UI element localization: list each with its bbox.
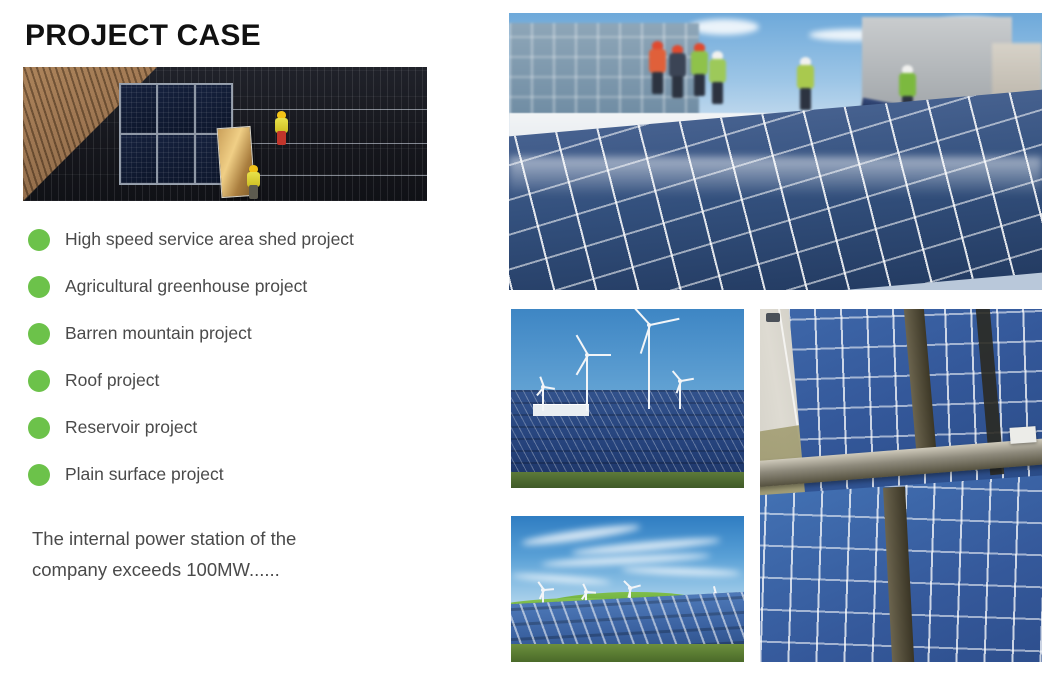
list-item[interactable]: Roof project <box>28 357 488 404</box>
wind-farm-photo <box>511 309 744 488</box>
roof-equipment-box <box>1009 426 1036 444</box>
hi-vis-vest <box>669 53 686 77</box>
list-item-label: Agricultural greenhouse project <box>65 276 307 297</box>
list-item[interactable]: Plain surface project <box>28 451 488 498</box>
worker-legs <box>652 72 663 94</box>
roof-installation-photo <box>23 67 427 201</box>
capacity-note-line-1: The internal power station of the <box>32 523 432 554</box>
hi-vis-vest <box>797 65 814 89</box>
worker-legs <box>694 74 705 96</box>
turbine-mast <box>648 323 650 409</box>
worker-legs <box>277 131 286 145</box>
list-item-label: Reservoir project <box>65 417 197 438</box>
worker-legs <box>249 185 258 199</box>
hi-vis-vest <box>691 51 708 75</box>
list-item[interactable]: Agricultural greenhouse project <box>28 263 488 310</box>
turbine-blade <box>544 588 554 591</box>
wind-turbine <box>669 379 691 409</box>
wind-turbine <box>571 353 603 411</box>
project-list: High speed service area shed project Agr… <box>28 216 488 498</box>
slide-root: PROJECT CASE <box>0 0 1060 689</box>
page-title: PROJECT CASE <box>25 21 261 51</box>
list-item[interactable]: Reservoir project <box>28 404 488 451</box>
rooftop-installation-photo <box>509 13 1042 290</box>
aerial-rooftop-solar-photo <box>760 309 1042 662</box>
hi-vis-vest <box>709 59 726 83</box>
list-item[interactable]: Barren mountain project <box>28 310 488 357</box>
parked-car <box>766 313 780 322</box>
list-item-label: Plain surface project <box>65 464 224 485</box>
wind-turbine <box>629 323 669 409</box>
wind-turbine <box>533 385 553 411</box>
worker-legs <box>672 76 683 98</box>
turbine-blade <box>587 591 596 594</box>
list-item[interactable]: High speed service area shed project <box>28 216 488 263</box>
list-item-label: Barren mountain project <box>65 323 252 344</box>
grass-strip <box>511 472 744 488</box>
capacity-note-line-2: company exceeds 100MW...... <box>32 554 432 585</box>
turbine-blade <box>588 354 611 356</box>
grassland-solar-photo <box>511 516 744 662</box>
list-item-label: Roof project <box>65 370 159 391</box>
worker-legs <box>712 82 723 104</box>
bullet-dot-icon <box>28 417 50 439</box>
bullet-dot-icon <box>28 276 50 298</box>
worker-legs <box>800 88 811 110</box>
turbine-mast <box>586 353 588 411</box>
hi-vis-vest <box>899 73 916 97</box>
capacity-note: The internal power station of the compan… <box>32 523 432 585</box>
bullet-dot-icon <box>28 229 50 251</box>
solar-array <box>119 83 233 185</box>
bullet-dot-icon <box>28 323 50 345</box>
grass-strip <box>511 644 744 662</box>
left-panel: PROJECT CASE <box>0 0 500 689</box>
cloud <box>689 19 759 35</box>
list-item-label: High speed service area shed project <box>65 229 354 250</box>
hi-vis-vest <box>649 49 666 73</box>
bullet-dot-icon <box>28 370 50 392</box>
bullet-dot-icon <box>28 464 50 486</box>
panel-glare <box>509 157 1042 196</box>
